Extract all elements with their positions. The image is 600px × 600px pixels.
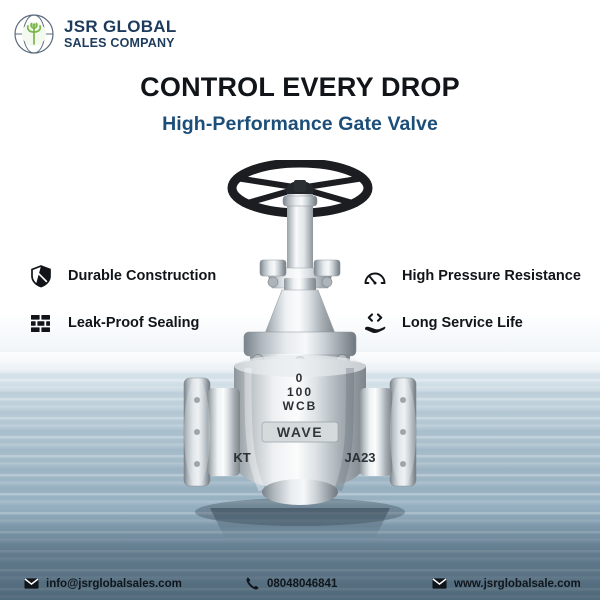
contact-phone-text: 08048046841 xyxy=(267,578,337,590)
contact-email-text: info@jsrglobalsales.com xyxy=(46,578,182,590)
brand-logo: JSR GLOBAL SALES COMPANY xyxy=(12,12,177,56)
feature-leak-proof-sealing: Leak-Proof Sealing xyxy=(28,310,199,336)
contact-email[interactable]: info@jsrglobalsales.com xyxy=(24,576,182,591)
envelope-icon xyxy=(24,576,39,591)
phone-icon xyxy=(245,576,260,591)
feature-label: High Pressure Resistance xyxy=(402,268,581,284)
brand-name-line2: SALES COMPANY xyxy=(64,37,177,50)
brick-wall-icon xyxy=(28,310,54,336)
page-subtitle: High-Performance Gate Valve xyxy=(0,113,600,136)
gauge-icon xyxy=(362,263,388,289)
brand-name-line1: JSR GLOBAL xyxy=(64,18,177,35)
marking-right: JA23 xyxy=(344,450,375,465)
feature-label: Durable Construction xyxy=(68,268,216,284)
feature-durable-construction: Durable Construction xyxy=(28,263,216,289)
feature-label: Leak-Proof Sealing xyxy=(68,315,199,331)
contact-bar: info@jsrglobalsales.com 08048046841 www.… xyxy=(0,564,600,600)
envelope-icon xyxy=(432,576,447,591)
right-flange xyxy=(360,378,416,486)
gate-valve-illustration: 0 100 WCB WAVE KT JA23 xyxy=(170,160,430,540)
contact-website[interactable]: www.jsrglobalsale.com xyxy=(432,576,581,591)
promo-poster: JSR GLOBAL SALES COMPANY CONTROL EVERY D… xyxy=(0,0,600,600)
marking-line1: 0 xyxy=(296,371,305,385)
feature-long-service-life: Long Service Life xyxy=(362,310,523,336)
left-flange xyxy=(184,378,240,486)
marking-line2: 100 xyxy=(287,385,313,399)
feature-high-pressure-resistance: High Pressure Resistance xyxy=(362,263,581,289)
contact-website-text: www.jsrglobalsale.com xyxy=(454,578,581,590)
feature-label: Long Service Life xyxy=(402,315,523,331)
code-in-hand-icon xyxy=(362,310,388,336)
globe-sprout-logo-icon xyxy=(12,12,56,56)
shield-icon xyxy=(28,263,54,289)
marking-left: KT xyxy=(233,450,250,465)
contact-phone[interactable]: 08048046841 xyxy=(245,576,337,591)
nameplate: WAVE xyxy=(262,422,338,442)
marking-line3: WCB xyxy=(283,399,318,413)
nameplate-text: WAVE xyxy=(277,424,323,440)
page-title: CONTROL EVERY DROP xyxy=(0,72,600,103)
